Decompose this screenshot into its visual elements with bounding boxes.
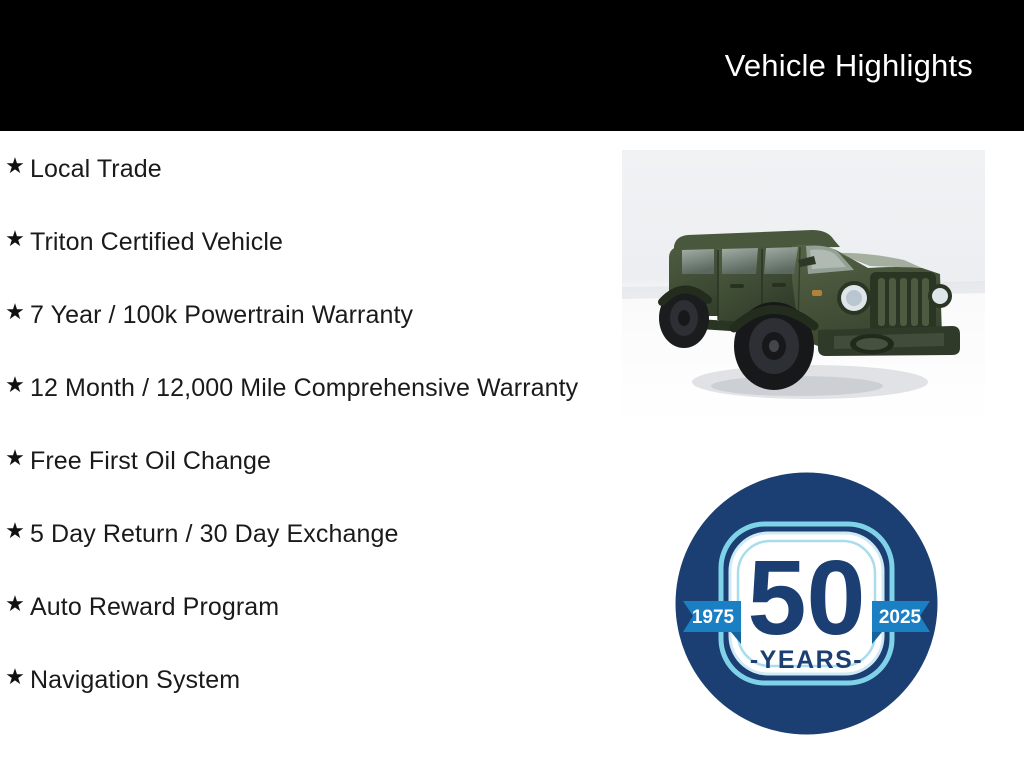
- highlight-label: 5 Day Return / 30 Day Exchange: [30, 516, 586, 552]
- list-item: ★ 12 Month / 12,000 Mile Comprehensive W…: [0, 370, 600, 406]
- star-icon: ★: [0, 151, 30, 181]
- badge-years-label: -YEARS-: [750, 646, 863, 674]
- star-icon: ★: [0, 662, 30, 692]
- anniversary-badge: 50 -YEARS- 1975 2025: [675, 472, 938, 735]
- list-item: ★ Triton Certified Vehicle: [0, 224, 600, 260]
- list-item: ★ Local Trade: [0, 151, 600, 187]
- list-item: ★ Navigation System: [0, 662, 600, 698]
- content-area: ★ Local Trade ★ Triton Certified Vehicle…: [0, 131, 1024, 768]
- badge-end-year: 2025: [879, 607, 922, 628]
- page-title: Vehicle Highlights: [725, 50, 973, 81]
- star-icon: ★: [0, 370, 30, 400]
- star-icon: ★: [0, 589, 30, 619]
- list-item: ★ 7 Year / 100k Powertrain Warranty: [0, 297, 600, 333]
- highlight-label: Auto Reward Program: [30, 589, 586, 625]
- star-icon: ★: [0, 443, 30, 473]
- star-icon: ★: [0, 224, 30, 254]
- anniversary-badge-graphic: 50 -YEARS- 1975 2025: [675, 472, 938, 735]
- star-icon: ★: [0, 516, 30, 546]
- vehicle-highlights-list: ★ Local Trade ★ Triton Certified Vehicle…: [0, 131, 600, 735]
- list-item: ★ Free First Oil Change: [0, 443, 600, 479]
- vehicle-photo-illustration: [622, 150, 985, 425]
- highlight-label: 12 Month / 12,000 Mile Comprehensive War…: [30, 370, 586, 406]
- vehicle-photo: [622, 150, 985, 425]
- list-item: ★ 5 Day Return / 30 Day Exchange: [0, 516, 600, 552]
- star-icon: ★: [0, 297, 30, 327]
- list-item: ★ Auto Reward Program: [0, 589, 600, 625]
- highlight-label: Free First Oil Change: [30, 443, 586, 479]
- highlight-label: Navigation System: [30, 662, 586, 698]
- badge-start-year: 1975: [692, 607, 735, 628]
- header-bar: Vehicle Highlights: [0, 0, 1024, 131]
- highlight-label: Triton Certified Vehicle: [30, 224, 586, 260]
- badge-number: 50: [748, 539, 866, 657]
- highlight-label: 7 Year / 100k Powertrain Warranty: [30, 297, 586, 333]
- highlight-label: Local Trade: [30, 151, 586, 187]
